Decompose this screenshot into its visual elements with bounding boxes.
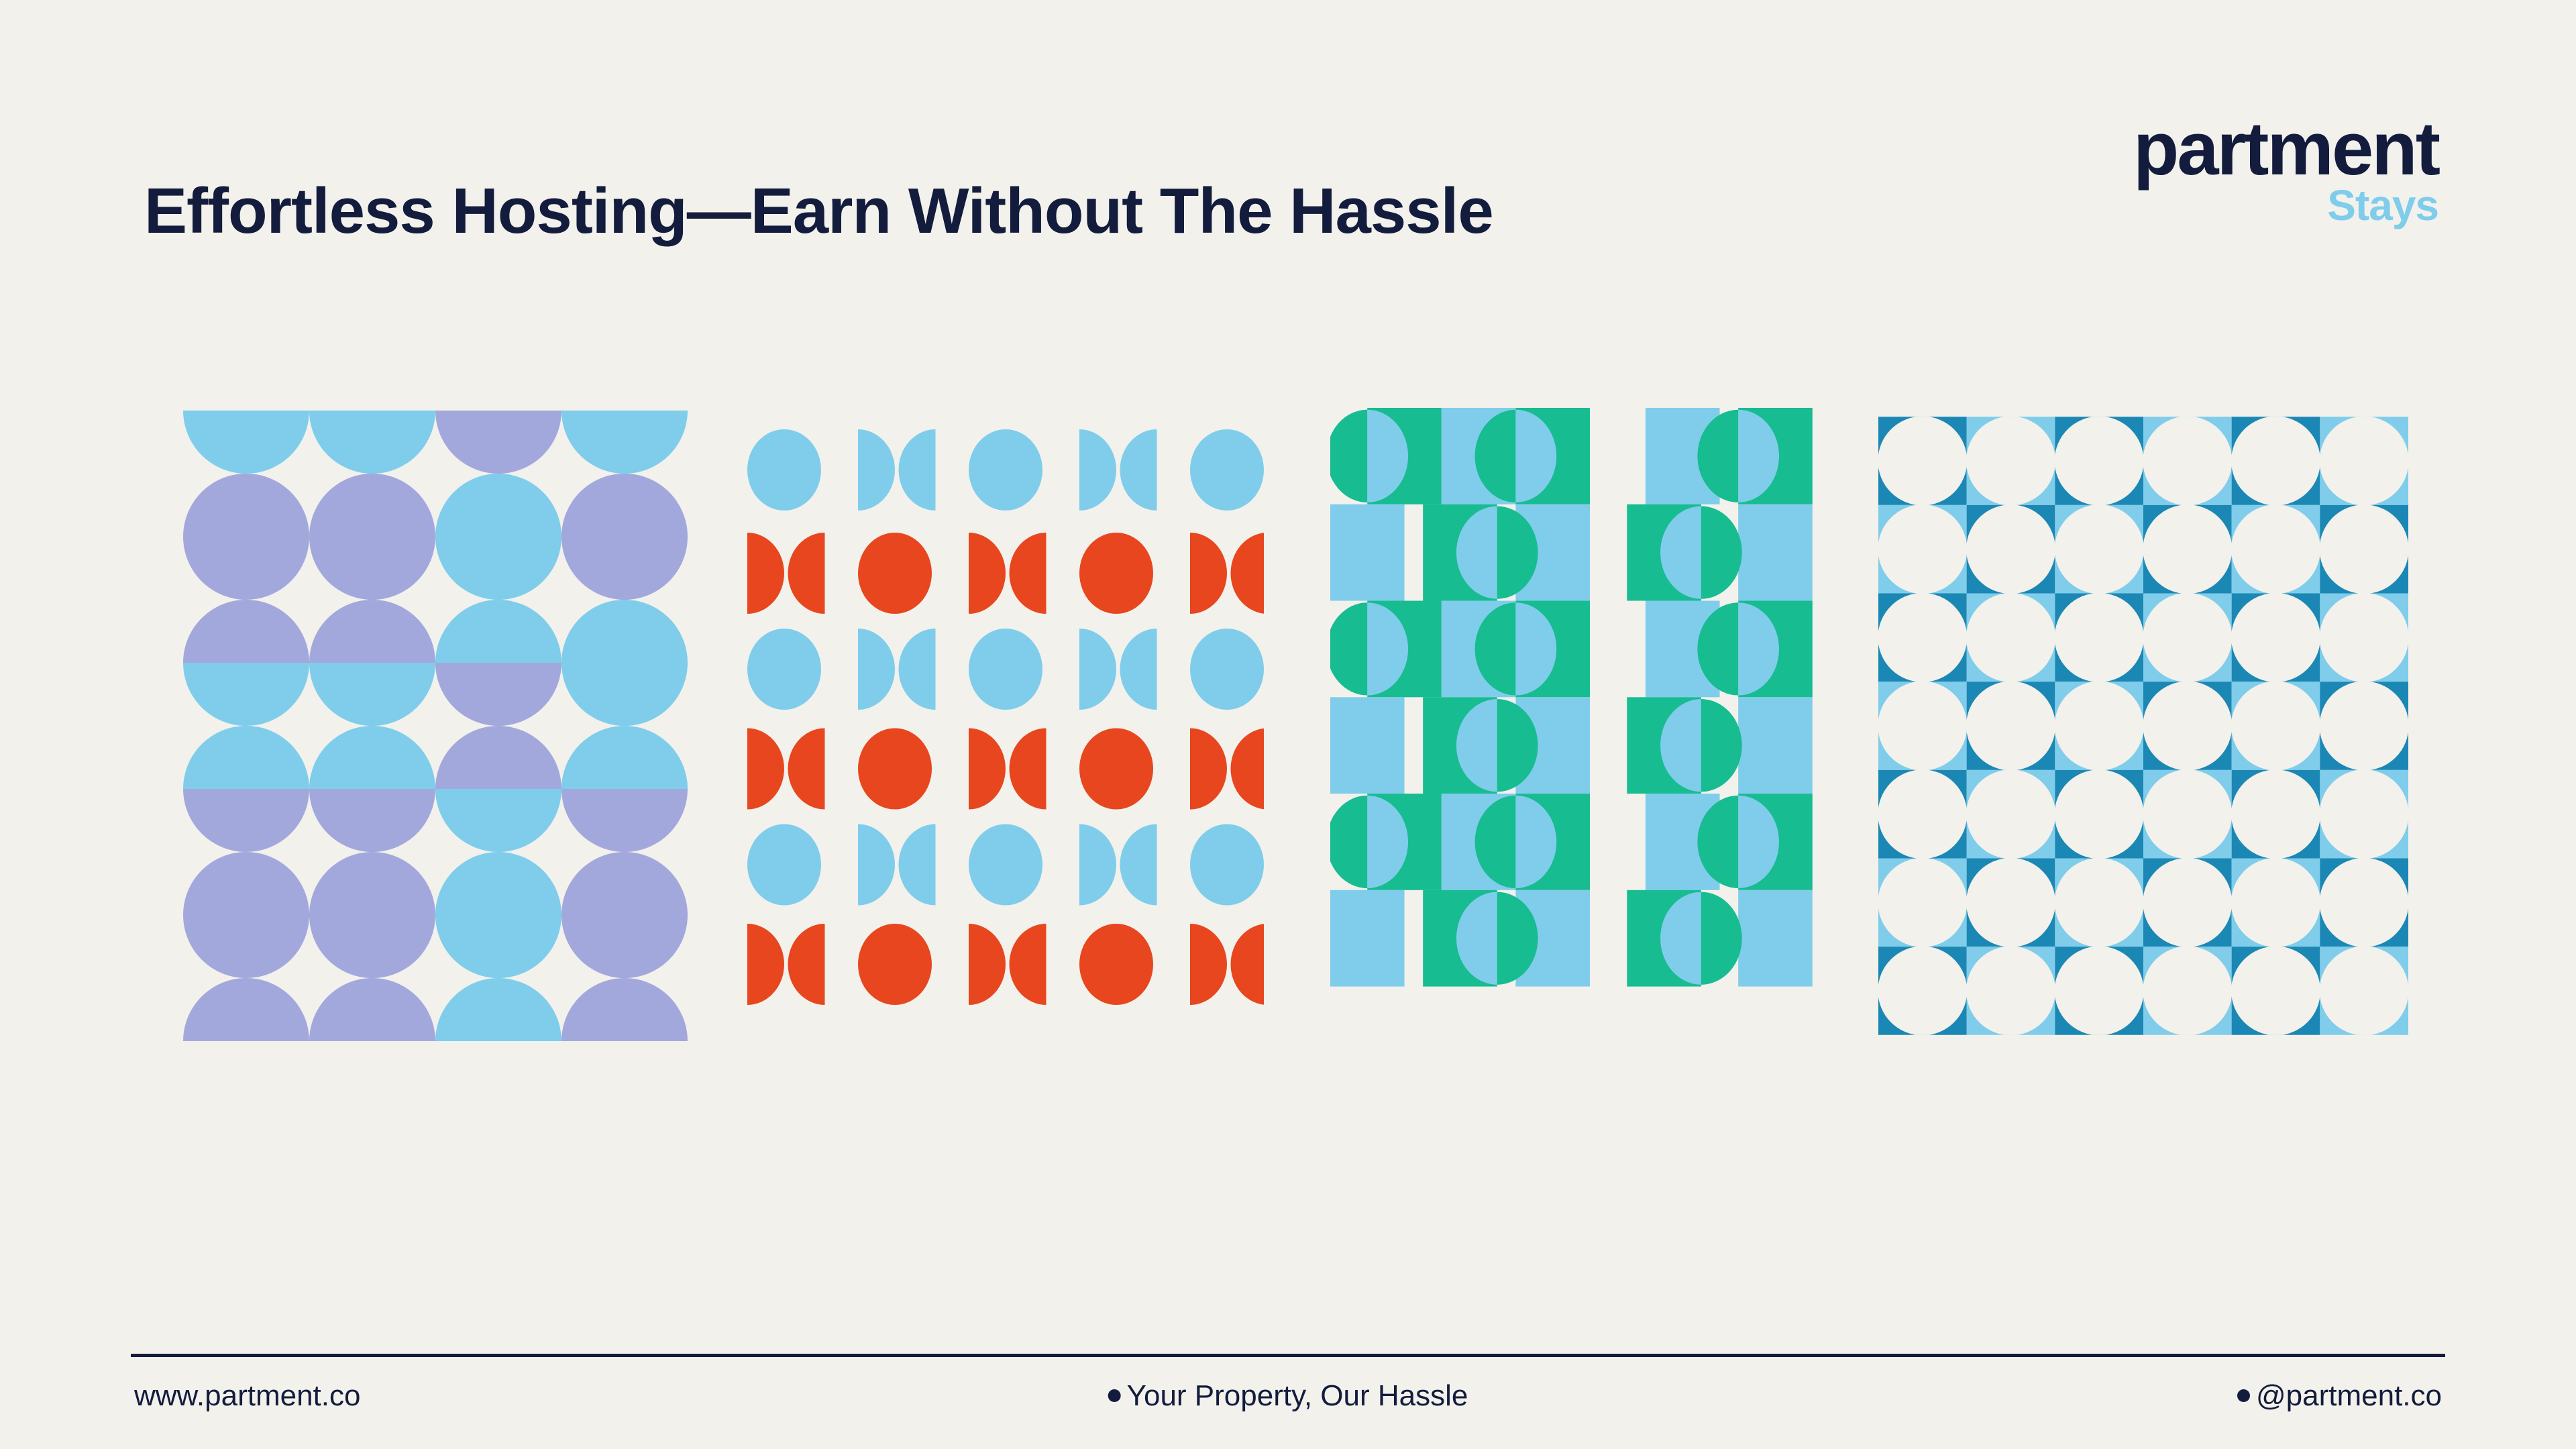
brand-logo: partment Stays <box>2133 114 2438 225</box>
brand-logo-main: partment <box>2133 114 2438 183</box>
pattern-panel-checker-circles <box>1325 408 1855 1038</box>
footer-tagline-label: Your Property, Our Hassle <box>1127 1379 1468 1412</box>
footer-social-handle[interactable]: @partment.co <box>2237 1379 2442 1413</box>
pattern-panel-quarter-circle-grid <box>173 411 698 1041</box>
footer-website-link[interactable]: www.partment.co <box>134 1379 360 1413</box>
footer-tagline: Your Property, Our Hassle <box>1108 1379 1468 1413</box>
page-title: Effortless Hosting—Earn Without The Hass… <box>144 174 1493 248</box>
pattern-panel-half-circle-dots <box>743 429 1268 1020</box>
pattern-panel-star-circles <box>1878 411 2408 1041</box>
brand-logo-sub: Stays <box>2133 186 2438 225</box>
footer-divider <box>131 1354 2445 1357</box>
bullet-dot-icon <box>1108 1389 1121 1402</box>
footer-social-label: @partment.co <box>2256 1379 2442 1412</box>
bullet-dot-icon <box>2237 1389 2250 1402</box>
